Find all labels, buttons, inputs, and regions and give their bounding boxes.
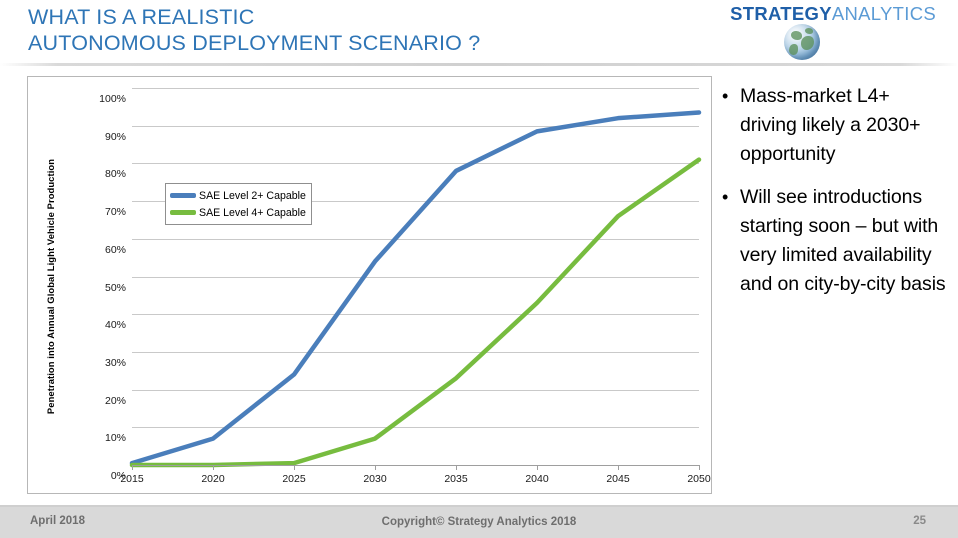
y-axis-tick-label: 50% bbox=[80, 282, 126, 294]
legend-swatch bbox=[170, 193, 196, 198]
series-lines bbox=[132, 88, 699, 465]
list-item: •Mass-market L4+ driving likely a 2030+ … bbox=[718, 82, 950, 169]
page-title: WHAT IS A REALISTIC AUTONOMOUS DEPLOYMEN… bbox=[28, 4, 668, 56]
x-axis-tick-label: 2045 bbox=[588, 473, 648, 485]
y-axis-tick-label: 20% bbox=[80, 395, 126, 407]
globe-icon bbox=[784, 24, 820, 60]
y-axis-tick-label: 80% bbox=[80, 168, 126, 180]
header-divider bbox=[0, 63, 958, 66]
logo-word-analytics: ANALYTICS bbox=[832, 3, 936, 24]
chart-panel: Penetration into Annual Global Light Veh… bbox=[27, 76, 712, 494]
x-axis-tick bbox=[456, 465, 457, 470]
footer-page-number: 25 bbox=[913, 515, 926, 527]
x-axis-tick-label: 2030 bbox=[345, 473, 405, 485]
y-axis-tick-label: 40% bbox=[80, 319, 126, 331]
globe-landmass bbox=[805, 28, 813, 34]
chart-legend: SAE Level 2+ CapableSAE Level 4+ Capable bbox=[165, 183, 312, 225]
slide-footer: April 2018 Copyright© Strategy Analytics… bbox=[0, 507, 958, 538]
x-axis-tick bbox=[375, 465, 376, 470]
x-axis-tick-label: 2020 bbox=[183, 473, 243, 485]
globe-landmass bbox=[789, 44, 798, 55]
bullet-list: •Mass-market L4+ driving likely a 2030+ … bbox=[718, 82, 950, 313]
x-axis-tick bbox=[537, 465, 538, 470]
x-axis-tick-label: 2025 bbox=[264, 473, 324, 485]
y-axis-tick-label: 30% bbox=[80, 357, 126, 369]
x-axis-tick bbox=[132, 465, 133, 470]
x-axis-tick-label: 2050 bbox=[669, 473, 729, 485]
legend-label: SAE Level 2+ Capable bbox=[199, 190, 306, 202]
plot-area bbox=[132, 88, 699, 465]
y-axis-tick-label: 10% bbox=[80, 432, 126, 444]
bullet-marker-icon: • bbox=[718, 183, 740, 299]
bullet-marker-icon: • bbox=[718, 82, 740, 169]
y-axis-tick-label: 100% bbox=[80, 93, 126, 105]
y-axis-tick-label: 90% bbox=[80, 131, 126, 143]
page-title-line-1: WHAT IS A REALISTIC bbox=[28, 4, 668, 30]
brand-logo: STRATEGYANALYTICS bbox=[686, 2, 936, 64]
y-axis-tick-label: 60% bbox=[80, 244, 126, 256]
x-axis-tick-label: 2015 bbox=[102, 473, 162, 485]
logo-wordmark: STRATEGYANALYTICS bbox=[730, 3, 936, 25]
legend-swatch bbox=[170, 210, 196, 215]
x-axis-tick-label: 2035 bbox=[426, 473, 486, 485]
globe-landmass bbox=[791, 31, 802, 40]
page-title-line-2: AUTONOMOUS DEPLOYMENT SCENARIO ? bbox=[28, 30, 668, 56]
y-axis-tick-label: 70% bbox=[80, 206, 126, 218]
x-axis-tick bbox=[294, 465, 295, 470]
y-axis-tick-labels: 0%10%20%30%40%50%60%70%80%90%100% bbox=[74, 88, 126, 465]
x-axis-tick bbox=[699, 465, 700, 470]
bullet-text: Will see introductions starting soon – b… bbox=[740, 183, 950, 299]
legend-item[interactable]: SAE Level 4+ Capable bbox=[170, 204, 306, 221]
y-axis-title-text: Penetration into Annual Global Light Veh… bbox=[46, 158, 57, 413]
list-item: •Will see introductions starting soon – … bbox=[718, 183, 950, 299]
logo-word-strategy: STRATEGY bbox=[730, 3, 832, 24]
x-axis-tick-label: 2040 bbox=[507, 473, 567, 485]
legend-label: SAE Level 4+ Capable bbox=[199, 207, 306, 219]
globe-landmass bbox=[801, 36, 814, 50]
bullet-text: Mass-market L4+ driving likely a 2030+ o… bbox=[740, 82, 950, 169]
y-axis-title: Penetration into Annual Global Light Veh… bbox=[42, 77, 60, 495]
footer-copyright: Copyright© Strategy Analytics 2018 bbox=[0, 516, 958, 528]
x-axis-tick bbox=[213, 465, 214, 470]
x-axis-tick bbox=[618, 465, 619, 470]
x-axis-line bbox=[132, 465, 699, 466]
legend-item[interactable]: SAE Level 2+ Capable bbox=[170, 187, 306, 204]
slide-header: WHAT IS A REALISTIC AUTONOMOUS DEPLOYMEN… bbox=[0, 0, 958, 66]
